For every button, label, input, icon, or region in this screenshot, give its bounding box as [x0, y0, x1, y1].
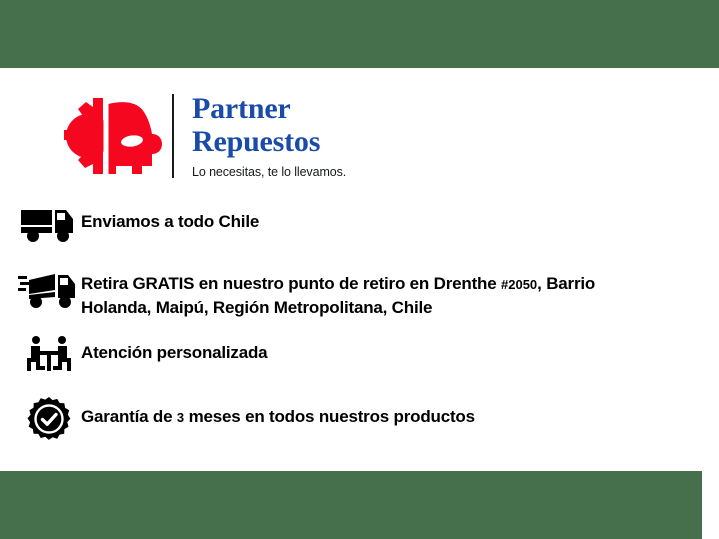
benefit-label-warranty: Garantía de 3 meses en todos nuestros pr… — [81, 397, 719, 429]
verified-badge-icon — [17, 397, 81, 443]
top-green-band — [0, 0, 719, 68]
fast-truck-icon — [17, 270, 81, 310]
benefit-text-rest-3: meses en todos nuestros productos — [184, 407, 475, 426]
benefit-row-attention: Atención personalizada — [0, 335, 719, 381]
bottom-green-band — [0, 471, 702, 539]
benefits-list: Enviamos a todo Chile — [0, 206, 719, 443]
benefit-label-shipping: Enviamos a todo Chile — [81, 206, 719, 233]
benefit-text-main-1: Retira GRATIS en nuestro punto de retiro… — [81, 274, 501, 293]
benefit-label-attention: Atención personalizada — [81, 335, 719, 364]
benefit-text-main-3: Garantía de — [81, 407, 177, 426]
benefit-label-pickup: Retira GRATIS en nuestro punto de retiro… — [81, 270, 719, 319]
delivery-truck-icon — [17, 206, 81, 244]
brand-name-line-1: Partner — [192, 92, 346, 125]
benefit-row-shipping: Enviamos a todo Chile — [0, 206, 719, 252]
benefit-text-main-0: Enviamos a todo Chile — [81, 212, 259, 231]
brand-text-block: Partner Repuestos Lo necesitas, te lo ll… — [192, 92, 346, 180]
benefit-text-main-2: Atención personalizada — [81, 343, 267, 362]
benefit-row-pickup: Retira GRATIS en nuestro punto de retiro… — [0, 270, 719, 319]
logo-divider — [172, 94, 174, 178]
brand-name-line-2: Repuestos — [192, 125, 346, 158]
benefit-row-warranty: Garantía de 3 meses en todos nuestros pr… — [0, 397, 719, 443]
benefit-text-number-1: #2050 — [501, 277, 537, 292]
gear-car-logo-icon — [58, 94, 164, 178]
promo-banner-page: Partner Repuestos Lo necesitas, te lo ll… — [0, 0, 719, 539]
benefit-text-number-3: 3 — [177, 410, 184, 425]
brand-tagline: Lo necesitas, te lo llevamos. — [192, 164, 346, 180]
people-at-table-icon — [17, 335, 81, 375]
brand-logo-block: Partner Repuestos Lo necesitas, te lo ll… — [58, 92, 346, 180]
